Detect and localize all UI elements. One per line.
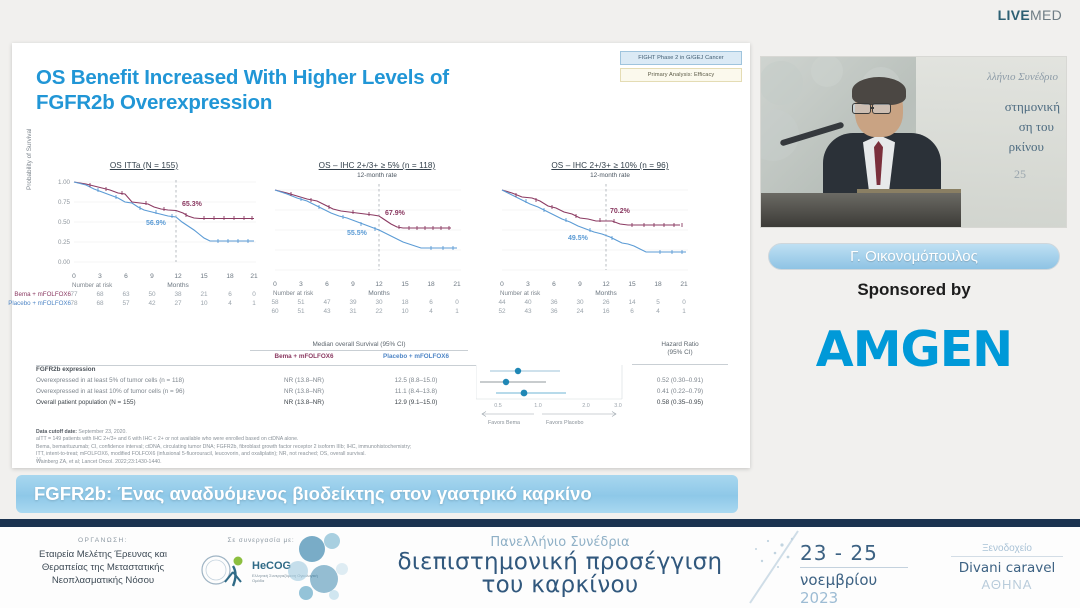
sponsored-by-label: Sponsored by bbox=[768, 280, 1060, 300]
km-xlabel-2: Months bbox=[368, 290, 390, 297]
speaker-name: Γ. Οικονομόπουλος bbox=[850, 248, 978, 265]
forest-row-2-hr: 0.58 (0.35–0.95) bbox=[632, 399, 728, 406]
km-risk-3-plac-6: 4 bbox=[656, 308, 660, 315]
km-risk-2-bema-0: 58 bbox=[271, 299, 278, 306]
km-canvas-3: 70.2% 49.5% bbox=[494, 180, 726, 280]
km-risk-1-plac-3: 42 bbox=[148, 300, 155, 307]
km-risk-3-plac-5: 6 bbox=[630, 308, 634, 315]
km-xtick-3-0: 0 bbox=[500, 281, 504, 288]
km-risk-2-plac-0: 60 bbox=[271, 308, 278, 315]
organizer-caption: ΟΡΓΑΝΩΣΗ: bbox=[18, 537, 188, 544]
footnote-line-4: ITT, intent-to-treat; mFOLFOX6, modified… bbox=[36, 451, 726, 458]
svg-text:1.0: 1.0 bbox=[534, 403, 542, 409]
km-xtick-1-7: 21 bbox=[250, 273, 257, 280]
footnote-cutoff-value: September 23, 2020. bbox=[77, 429, 127, 435]
km-xtick-1-0: 0 bbox=[72, 273, 76, 280]
svg-text:0.5: 0.5 bbox=[494, 403, 502, 409]
forest-group-label: FGFR2b expression bbox=[36, 366, 96, 373]
forest-axis-left-label: Favors Bema bbox=[488, 420, 520, 426]
km-risk-3-plac-7: 1 bbox=[682, 308, 686, 315]
km-xtick-2-7: 21 bbox=[453, 281, 460, 288]
km-risk-2-plac-4: 22 bbox=[375, 308, 382, 315]
badge-study: FIGHT Phase 2 in G/GEJ Cancer bbox=[620, 51, 742, 65]
km-annotation-3-bema: 70.2% bbox=[610, 208, 630, 215]
km-risk-1-plac-0: 78 bbox=[70, 300, 77, 307]
km-panel-ihc5: OS – IHC 2+/3+ ≥ 5% (n = 118) 12-month r… bbox=[261, 161, 493, 329]
km-xtick-1-1: 3 bbox=[98, 273, 102, 280]
footnote-cutoff-label: Data cutoff date: bbox=[36, 429, 77, 435]
km-risk-table-3: 0 3 6 9 12 15 18 21 Number at risk Month… bbox=[494, 281, 726, 317]
svg-text:0.00: 0.00 bbox=[58, 259, 71, 266]
km-xtick-3-5: 15 bbox=[628, 281, 635, 288]
conference-date-year: 2023 bbox=[800, 589, 838, 607]
km-xtick-3-6: 18 bbox=[654, 281, 661, 288]
forest-row-0-hr: 0.52 (0.30–0.91) bbox=[632, 377, 728, 384]
km-risk-2-bema-4: 30 bbox=[375, 299, 382, 306]
conference-date-month: νοεμβρίου bbox=[800, 571, 877, 589]
km-risk-1-bema-0: 77 bbox=[70, 291, 77, 298]
km-xtick-2-5: 15 bbox=[401, 281, 408, 288]
conference-date-block: 23 - 25 νοεμβρίου 2023 bbox=[800, 541, 920, 607]
km-xtick-3-7: 21 bbox=[680, 281, 687, 288]
km-risk-1-plac-5: 10 bbox=[200, 300, 207, 307]
km-title-2: OS – IHC 2+/3+ ≥ 5% (n = 118) bbox=[261, 161, 493, 170]
podium bbox=[761, 193, 961, 227]
conference-venue-block: Ξενοδοχείο Divani caravel ΑΘΗΝΑ bbox=[945, 543, 1069, 592]
svg-text:1.00: 1.00 bbox=[58, 179, 71, 186]
km-risk-2-plac-2: 43 bbox=[323, 308, 330, 315]
conference-title-block: Πανελλήνιο Συνέδρια διεπιστημονική προσέ… bbox=[360, 535, 760, 598]
km-risk-3-bema-2: 36 bbox=[550, 299, 557, 306]
km-risk-2-plac-6: 4 bbox=[429, 308, 433, 315]
forest-group-header: Median overall Survival (95% CI) bbox=[250, 341, 468, 348]
forest-row-0-name: Overexpressed in at least 5% of tumor ce… bbox=[36, 377, 184, 384]
speaker-video[interactable]: λλήνιο Συνέδριο στημονική ση του ρκίνου … bbox=[760, 56, 1067, 228]
km-title-3: OS – IHC 2+/3+ ≥ 10% (n = 96) bbox=[494, 161, 726, 170]
km-risk-label-1-placebo: Placebo + mFOLFOX6 bbox=[8, 300, 74, 307]
venue-name: Divani caravel bbox=[945, 560, 1069, 576]
forest-table: Median overall Survival (95% CI) Bema + … bbox=[36, 341, 728, 410]
backdrop-text-5: 25 bbox=[1014, 167, 1026, 182]
km-title-1: OS ITTa (N = 155) bbox=[28, 161, 260, 170]
conference-date-days: 23 - 25 bbox=[800, 541, 920, 565]
km-risk-1-bema-1: 68 bbox=[96, 291, 103, 298]
footnotes: Data cutoff date: September 23, 2020. aI… bbox=[36, 429, 726, 466]
slide-badges: FIGHT Phase 2 in G/GEJ Cancer Primary An… bbox=[620, 51, 742, 82]
km-risk-caption-1: Number at risk bbox=[72, 282, 112, 289]
organizer-name: Εταιρεία Μελέτης Έρευνας και Θεραπείας τ… bbox=[18, 548, 188, 587]
km-xtick-3-4: 12 bbox=[602, 281, 609, 288]
footer-decoration-left bbox=[272, 527, 362, 608]
km-risk-1-plac-4: 27 bbox=[174, 300, 181, 307]
km-canvas-1: Probability of Survival 1.00 0.75 0.50 0… bbox=[28, 172, 260, 272]
slide-page-number: 16 bbox=[36, 457, 42, 463]
km-xtick-2-4: 12 bbox=[375, 281, 382, 288]
km-xtick-3-1: 3 bbox=[526, 281, 530, 288]
km-risk-2-plac-7: 1 bbox=[455, 308, 459, 315]
svg-text:2.0: 2.0 bbox=[582, 403, 590, 409]
km-subtitle-3: 12-month rate bbox=[494, 172, 726, 179]
slide-title: OS Benefit Increased With Higher Levels … bbox=[36, 65, 506, 115]
km-risk-3-plac-1: 43 bbox=[524, 308, 531, 315]
badge-analysis: Primary Analysis: Efficacy bbox=[620, 68, 742, 82]
km-risk-1-plac-6: 4 bbox=[228, 300, 232, 307]
km-xlabel-3: Months bbox=[595, 290, 617, 297]
km-subtitle-2: 12-month rate bbox=[261, 172, 493, 179]
km-risk-2-bema-5: 18 bbox=[401, 299, 408, 306]
km-risk-3-plac-2: 36 bbox=[550, 308, 557, 315]
km-risk-1-plac-2: 57 bbox=[122, 300, 129, 307]
km-xtick-2-2: 6 bbox=[325, 281, 329, 288]
km-risk-2-bema-2: 47 bbox=[323, 299, 330, 306]
amgen-logo-text: AMGEN bbox=[816, 321, 1012, 378]
backdrop-text-4: ρκίνου bbox=[1009, 139, 1044, 155]
forest-plot: 0.5 1.0 2.0 3.0 Favors Bema Favors Place… bbox=[476, 365, 632, 417]
km-risk-label-1-bema: Bema + mFOLFOX6 bbox=[14, 291, 74, 298]
backdrop-text-2: στημονική bbox=[1005, 99, 1060, 115]
km-annotation-1-placebo: 56.9% bbox=[146, 220, 166, 227]
km-ylabel-1: Probability of Survival bbox=[26, 129, 33, 190]
footnote-line-1: Data cutoff date: September 23, 2020. bbox=[36, 429, 726, 436]
km-risk-1-bema-7: 0 bbox=[252, 291, 256, 298]
backdrop-text-3: ση του bbox=[1019, 119, 1054, 135]
km-canvas-2: 67.9% 55.5% bbox=[261, 180, 493, 280]
forest-row-1-hr: 0.41 (0.22–0.79) bbox=[632, 388, 728, 395]
km-risk-table-1: 0 3 6 9 12 15 18 21 Number at risk Month… bbox=[28, 273, 260, 309]
organizer-block: ΟΡΓΑΝΩΣΗ: Εταιρεία Μελέτης Έρευνας και Θ… bbox=[18, 537, 188, 587]
km-xtick-1-6: 18 bbox=[226, 273, 233, 280]
km-risk-3-bema-1: 40 bbox=[524, 299, 531, 306]
km-risk-1-plac-7: 1 bbox=[252, 300, 256, 307]
km-risk-3-bema-0: 44 bbox=[498, 299, 505, 306]
km-risk-1-bema-2: 63 bbox=[122, 291, 129, 298]
livemed-logo-light: MED bbox=[1030, 7, 1062, 23]
forest-row-2-placebo: 12.9 (9.1–15.0) bbox=[360, 399, 472, 406]
km-risk-1-plac-1: 68 bbox=[96, 300, 103, 307]
top-bar: LIVEMED bbox=[0, 0, 1080, 30]
km-risk-1-bema-5: 21 bbox=[200, 291, 207, 298]
km-risk-caption-3: Number at risk bbox=[500, 290, 540, 297]
forest-col-hr-line2: (95% CI) bbox=[632, 349, 728, 356]
forest-header: Median overall Survival (95% CI) Bema + … bbox=[36, 341, 728, 365]
livemed-logo-bold: LIVE bbox=[998, 7, 1030, 23]
km-risk-2-bema-6: 6 bbox=[429, 299, 433, 306]
svg-text:0.75: 0.75 bbox=[58, 199, 71, 206]
km-panel-ihc10: OS – IHC 2+/3+ ≥ 10% (n = 96) 12-month r… bbox=[494, 161, 726, 329]
speaker-name-banner: Γ. Οικονομόπουλος bbox=[768, 243, 1060, 270]
session-title-bar: FGFR2b: Ένας αναδυόμενος βιοδείκτης στον… bbox=[16, 475, 738, 513]
km-annotation-1-bema: 65.3% bbox=[182, 201, 202, 208]
km-risk-2-bema-7: 0 bbox=[455, 299, 459, 306]
forest-row-2-bema: NR (13.8–NR) bbox=[250, 399, 358, 406]
forest-row-2-name: Overall patient population (N = 155) bbox=[36, 399, 136, 406]
svg-text:0.25: 0.25 bbox=[58, 239, 71, 246]
footnote-line-2: aITT = 149 patients with IHC 2+/3+ and 6… bbox=[36, 436, 726, 443]
km-xlabel-1: Months bbox=[167, 282, 189, 289]
km-risk-table-2: 0 3 6 9 12 15 18 21 Number at risk Month… bbox=[261, 281, 493, 317]
km-risk-1-bema-6: 6 bbox=[228, 291, 232, 298]
km-xtick-1-3: 9 bbox=[150, 273, 154, 280]
km-xtick-2-0: 0 bbox=[273, 281, 277, 288]
km-xtick-1-5: 15 bbox=[200, 273, 207, 280]
svg-text:0.50: 0.50 bbox=[58, 219, 71, 226]
km-xtick-3-2: 6 bbox=[552, 281, 556, 288]
km-risk-1-bema-4: 38 bbox=[174, 291, 181, 298]
forest-row-1-name: Overexpressed in at least 10% of tumor c… bbox=[36, 388, 185, 395]
forest-axis-right-label: Favors Placebo bbox=[546, 420, 583, 426]
km-risk-3-bema-3: 30 bbox=[576, 299, 583, 306]
km-risk-2-plac-1: 51 bbox=[297, 308, 304, 315]
footnote-line-5: Wainberg ZA, et al; Lancet Oncol. 2022;2… bbox=[36, 459, 726, 466]
conference-pretitle: Πανελλήνιο Συνέδρια bbox=[360, 535, 760, 550]
km-xtick-2-3: 9 bbox=[351, 281, 355, 288]
km-risk-caption-2: Number at risk bbox=[273, 290, 313, 297]
livemed-logo: LIVEMED bbox=[998, 7, 1062, 23]
km-panel-itt: OS ITTa (N = 155) Probability of Surviva… bbox=[28, 161, 260, 329]
km-risk-3-plac-0: 52 bbox=[498, 308, 505, 315]
session-title: FGFR2b: Ένας αναδυόμενος βιοδείκτης στον… bbox=[34, 483, 592, 505]
forest-row-1-bema: NR (13.8–NR) bbox=[250, 388, 358, 395]
km-risk-1-bema-3: 50 bbox=[148, 291, 155, 298]
km-risk-3-plac-3: 24 bbox=[576, 308, 583, 315]
km-xtick-1-4: 12 bbox=[174, 273, 181, 280]
km-risk-2-plac-5: 10 bbox=[401, 308, 408, 315]
slide-panel: OS Benefit Increased With Higher Levels … bbox=[12, 43, 750, 468]
svg-text:3.0: 3.0 bbox=[614, 403, 622, 409]
venue-city: ΑΘΗΝΑ bbox=[945, 577, 1069, 592]
km-risk-3-bema-6: 5 bbox=[656, 299, 660, 306]
km-risk-2-bema-3: 39 bbox=[349, 299, 356, 306]
footnote-line-3: Bema, bemarituzumab; CI, confidence inte… bbox=[36, 444, 726, 451]
km-plot-row: OS ITTa (N = 155) Probability of Surviva… bbox=[28, 161, 740, 329]
km-risk-3-plac-4: 16 bbox=[602, 308, 609, 315]
km-xtick-2-1: 3 bbox=[299, 281, 303, 288]
conference-title-line2: του καρκίνου bbox=[360, 572, 760, 598]
km-risk-2-bema-1: 51 bbox=[297, 299, 304, 306]
km-risk-3-bema-5: 14 bbox=[628, 299, 635, 306]
km-annotation-2-bema: 67.9% bbox=[385, 210, 405, 217]
forest-col-bema: Bema + mFOLFOX6 bbox=[250, 353, 358, 360]
forest-col-hr-line1: Hazard Ratio bbox=[632, 341, 728, 348]
km-xtick-2-6: 18 bbox=[427, 281, 434, 288]
forest-row-0-bema: NR (13.8–NR) bbox=[250, 377, 358, 384]
forest-row-1-placebo: 11.1 (8.4–13.8) bbox=[360, 388, 472, 395]
conference-footer: ΟΡΓΑΝΩΣΗ: Εταιρεία Μελέτης Έρευνας και Θ… bbox=[0, 527, 1080, 608]
km-xtick-3-3: 9 bbox=[578, 281, 582, 288]
km-risk-3-bema-7: 0 bbox=[682, 299, 686, 306]
forest-col-placebo: Placebo + mFOLFOX6 bbox=[360, 353, 472, 360]
backdrop-text-1: λλήνιο Συνέδριο bbox=[987, 71, 1058, 83]
km-annotation-3-placebo: 49.5% bbox=[568, 235, 588, 242]
venue-caption: Ξενοδοχείο bbox=[945, 543, 1069, 554]
km-annotation-2-placebo: 55.5% bbox=[347, 230, 367, 237]
km-risk-2-plac-3: 31 bbox=[349, 308, 356, 315]
amgen-logo: AMGEN bbox=[768, 310, 1060, 388]
km-risk-3-bema-4: 26 bbox=[602, 299, 609, 306]
km-xtick-1-2: 6 bbox=[124, 273, 128, 280]
forest-row-0-placebo: 12.5 (8.8–15.0) bbox=[360, 377, 472, 384]
